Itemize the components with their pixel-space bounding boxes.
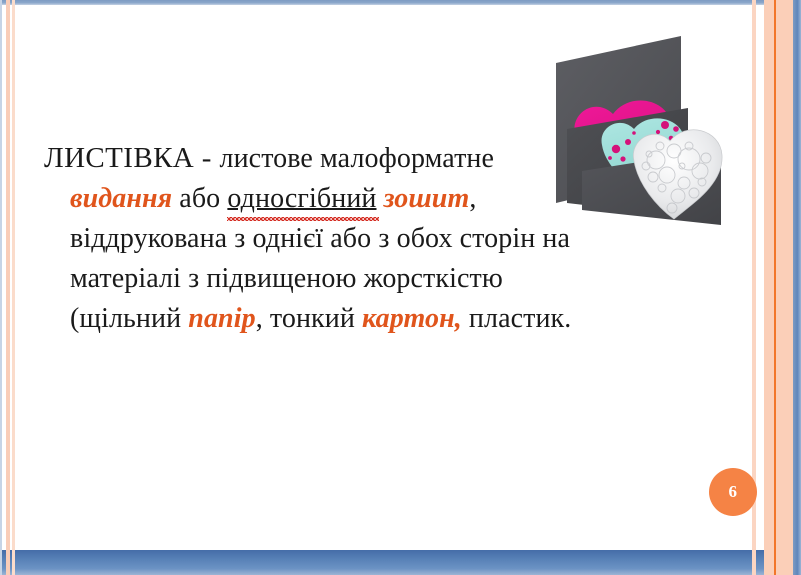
decor-stripe-right-wide xyxy=(764,0,793,575)
slide-border-bottom xyxy=(0,550,801,575)
text-run-4: , тонкий xyxy=(256,303,362,334)
highlight-zoshyt: зошит xyxy=(384,183,470,214)
greeting-card-photo xyxy=(534,25,742,240)
decor-accent-line-right xyxy=(774,0,776,575)
slide-body-text: ЛИСТІВКА - листове малоформатне видання … xyxy=(44,138,584,339)
term-title: ЛИСТІВКА xyxy=(44,142,194,174)
decor-stripe-left-outer xyxy=(6,0,10,575)
page-number-text: 6 xyxy=(729,482,738,502)
term-dash: - xyxy=(194,142,219,174)
highlight-papir: папір xyxy=(188,303,255,334)
text-run-5: пластик. xyxy=(462,303,572,334)
slide-border-right xyxy=(793,0,801,575)
decor-stripe-left-inner xyxy=(12,0,15,575)
page-number-badge: 6 xyxy=(709,468,757,516)
misspelled-word-odnosgibnyi: односгібний xyxy=(227,183,376,214)
text-run-2: або xyxy=(172,183,227,214)
greeting-card-illustration xyxy=(534,25,742,240)
slide-border-left xyxy=(0,0,2,575)
text-run-1: листове малоформатне xyxy=(220,143,495,174)
slide-canvas: ЛИСТІВКА - листове малоформатне видання … xyxy=(0,0,801,575)
highlight-karton: картон, xyxy=(362,303,462,334)
highlight-vydannia: видання xyxy=(70,183,172,214)
slide-border-top xyxy=(0,0,801,5)
text-space-1 xyxy=(377,183,384,214)
